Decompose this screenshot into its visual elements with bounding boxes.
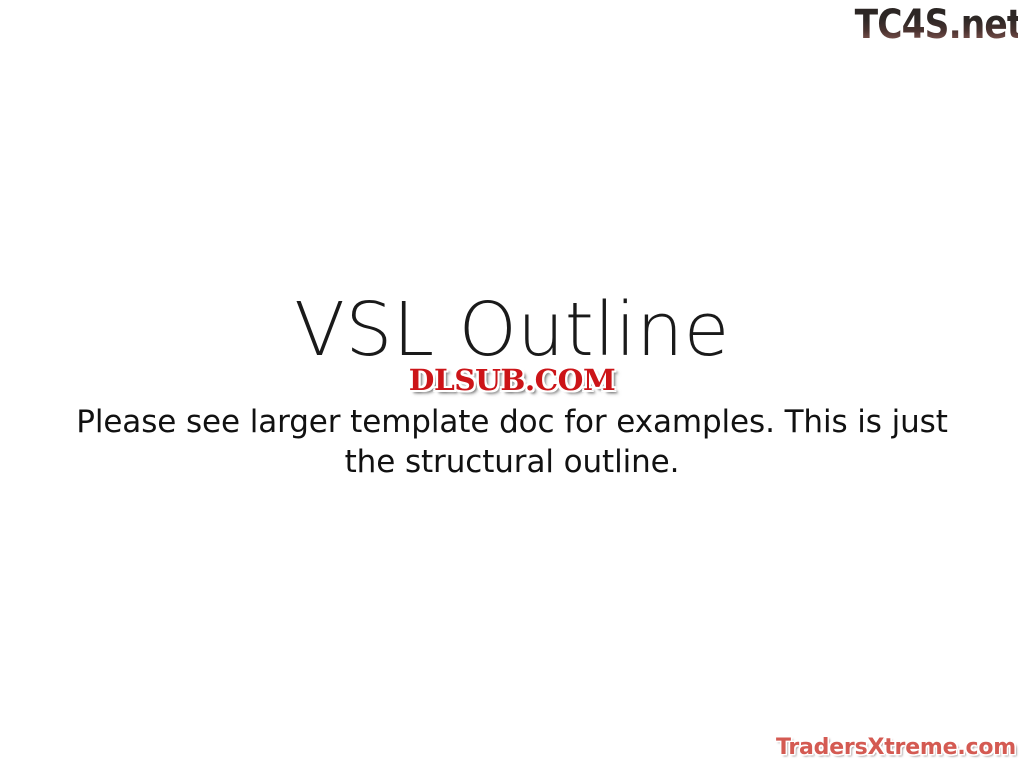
slide-subtitle: Please see larger template doc for examp…	[72, 402, 952, 482]
page-title: VSL Outline	[62, 288, 962, 372]
tradersxtreme-watermark-label: TradersXtreme.com	[776, 735, 1016, 760]
dlsub-watermark: DLSUB.COM	[361, 363, 663, 397]
slide-content: VSL Outline Please see larger template d…	[0, 0, 1024, 768]
presentation-slide: TC4S.net VSL Outline Please see larger t…	[0, 0, 1024, 768]
tradersxtreme-watermark: TradersXtreme.com	[776, 734, 1016, 762]
